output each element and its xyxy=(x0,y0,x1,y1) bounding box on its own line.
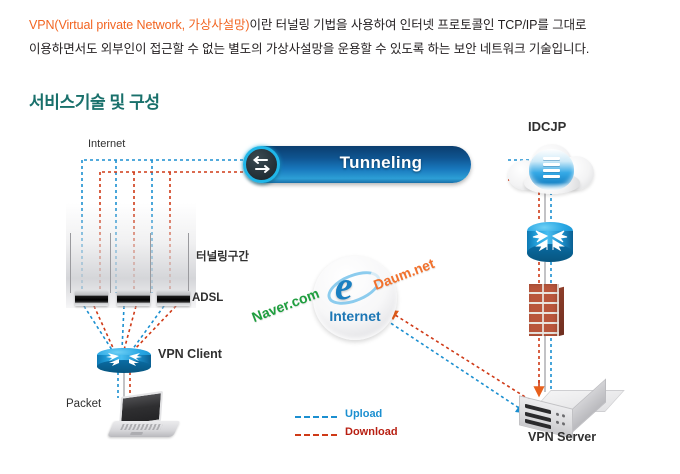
idcjp-cloud xyxy=(508,142,594,197)
legend-label-download: Download xyxy=(345,426,398,438)
naver-label: Naver.com xyxy=(249,285,321,325)
vpn-client-switch xyxy=(97,348,151,374)
cloud-dome xyxy=(529,149,574,190)
adsl-modem xyxy=(157,291,190,306)
firewall-brick xyxy=(529,284,563,336)
tunnel-zone-label: 터널링구간 xyxy=(196,248,249,264)
vpn-server-box xyxy=(515,390,611,435)
laptop xyxy=(107,394,175,442)
adsl-modem xyxy=(117,291,150,306)
legend-swatch-upload xyxy=(295,416,337,418)
network-diagram: Tunneling xyxy=(0,0,680,474)
legend-label-upload: Upload xyxy=(345,408,382,420)
adsl-modem xyxy=(75,291,108,306)
vpn-server-label: VPN Server xyxy=(528,430,596,444)
server-stack-icon xyxy=(542,157,561,181)
core-router xyxy=(527,222,573,263)
tunnel-rib xyxy=(188,233,189,293)
daum-label: Daum.net xyxy=(371,255,436,293)
legend-swatch-download xyxy=(295,434,337,436)
bidirectional-arrows-icon xyxy=(243,146,280,183)
vpn-client-label: VPN Client xyxy=(158,347,222,361)
ie-logo-icon: e xyxy=(335,266,353,306)
tunnel-rib xyxy=(70,233,71,293)
internet-globe-label: Internet xyxy=(313,308,397,324)
packet-label: Packet xyxy=(66,398,101,410)
tunnel-rib xyxy=(150,233,151,293)
adsl-label: ADSL xyxy=(192,292,223,304)
idcjp-label: IDCJP xyxy=(528,119,566,134)
tunnel-rib xyxy=(110,233,111,293)
internet-globe: e Internet xyxy=(313,256,397,340)
internet-left-label: Internet xyxy=(88,138,125,150)
tunneling-label: Tunneling xyxy=(306,153,456,173)
